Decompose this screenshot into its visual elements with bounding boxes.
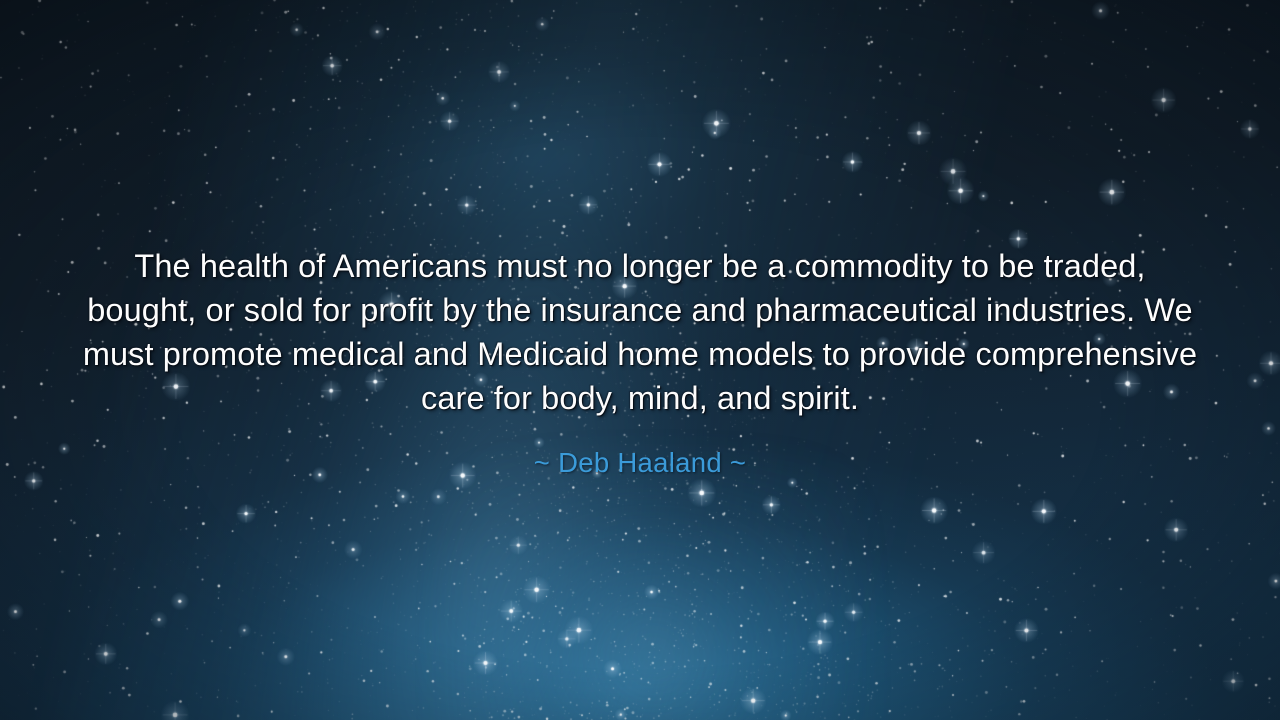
quote-attribution: ~ Deb Haaland ~ bbox=[534, 446, 746, 480]
quote-card: The health of Americans must no longer b… bbox=[0, 0, 1280, 720]
quote-body-text: The health of Americans must no longer b… bbox=[78, 244, 1202, 420]
